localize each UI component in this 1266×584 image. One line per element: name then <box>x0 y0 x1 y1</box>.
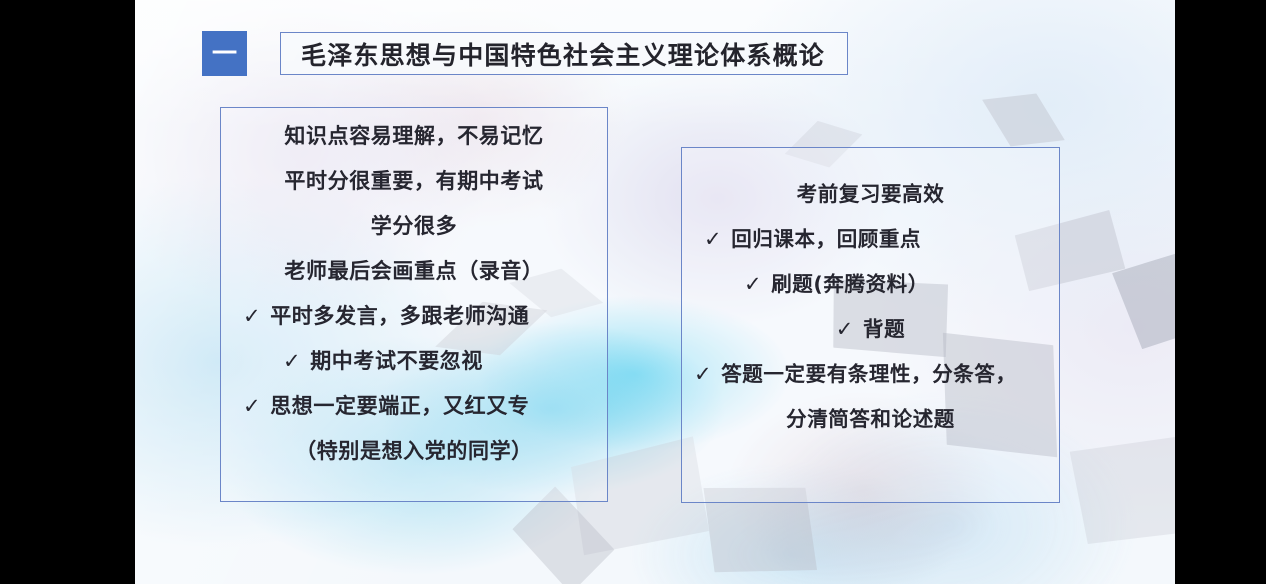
list-item: ✓背题 <box>682 307 1059 352</box>
list-item: （特别是想入党的同学） <box>221 429 607 474</box>
list-item: ✓平时多发言，多跟老师沟通 <box>221 294 607 339</box>
list-item: ✓思想一定要端正，又红又专 <box>221 384 607 429</box>
list-item: 分清简答和论述题 <box>682 397 1059 442</box>
list-item: ✓答题一定要有条理性，分条答， <box>682 352 1059 397</box>
letterbox-right <box>1175 0 1266 584</box>
checkmark-icon: ✓ <box>694 352 712 397</box>
graduation-cap-shape <box>1057 421 1175 559</box>
list-item: ✓刷题(奔腾资料） <box>682 262 1059 307</box>
slide-title-box: 毛泽东思想与中国特色社会主义理论体系概论 <box>280 32 848 75</box>
list-item: 考前复习要高效 <box>682 172 1059 217</box>
list-item: 学分很多 <box>221 204 607 249</box>
list-item-text: 学分很多 <box>371 204 457 249</box>
list-item: 老师最后会画重点（录音） <box>221 249 607 294</box>
list-item-text: 背题 <box>863 307 905 352</box>
checkmark-icon: ✓ <box>243 384 261 429</box>
checkmark-icon: ✓ <box>704 217 722 262</box>
list-item: 平时分很重要，有期中考试 <box>221 159 607 204</box>
list-item-text: 平时多发言，多跟老师沟通 <box>270 294 529 339</box>
letterbox-left <box>0 0 135 584</box>
list-item-text: 答题一定要有条理性，分条答， <box>721 352 1016 397</box>
list-item-text: 刷题(奔腾资料） <box>771 262 929 307</box>
list-item: ✓期中考试不要忽视 <box>221 339 607 384</box>
list-item-text: 思想一定要端正，又红又专 <box>270 384 529 429</box>
checkmark-icon: ✓ <box>243 294 261 339</box>
list-item-text: 回归课本，回顾重点 <box>731 217 921 262</box>
list-item-text: 平时分很重要，有期中考试 <box>284 159 543 204</box>
section-number-badge: 一 <box>202 31 247 76</box>
list-item-text: （特别是想入党的同学） <box>295 429 533 474</box>
checkmark-icon: ✓ <box>836 307 854 352</box>
list-item-text: 分清简答和论述题 <box>786 397 955 442</box>
list-item-text: 考前复习要高效 <box>797 172 945 217</box>
presentation-slide: 一 毛泽东思想与中国特色社会主义理论体系概论 知识点容易理解，不易记忆 平时分很… <box>135 0 1175 584</box>
checkmark-icon: ✓ <box>283 339 301 384</box>
checkmark-icon: ✓ <box>744 262 762 307</box>
list-item-text: 老师最后会画重点（录音） <box>284 249 543 294</box>
left-content-panel: 知识点容易理解，不易记忆 平时分很重要，有期中考试 学分很多 老师最后会画重点（… <box>220 107 608 502</box>
screenshot-viewport: 一 毛泽东思想与中国特色社会主义理论体系概论 知识点容易理解，不易记忆 平时分很… <box>0 0 1266 584</box>
list-item: 知识点容易理解，不易记忆 <box>221 114 607 159</box>
slide-heading: 一 毛泽东思想与中国特色社会主义理论体系概论 <box>202 31 848 76</box>
right-content-panel: 考前复习要高效 ✓回归课本，回顾重点 ✓刷题(奔腾资料） ✓背题 ✓答题一定要有… <box>681 147 1060 503</box>
list-item-text: 期中考试不要忽视 <box>310 339 483 384</box>
page-title: 毛泽东思想与中国特色社会主义理论体系概论 <box>301 36 825 72</box>
list-item: ✓回归课本，回顾重点 <box>682 217 1059 262</box>
list-item-text: 知识点容易理解，不易记忆 <box>284 114 543 159</box>
